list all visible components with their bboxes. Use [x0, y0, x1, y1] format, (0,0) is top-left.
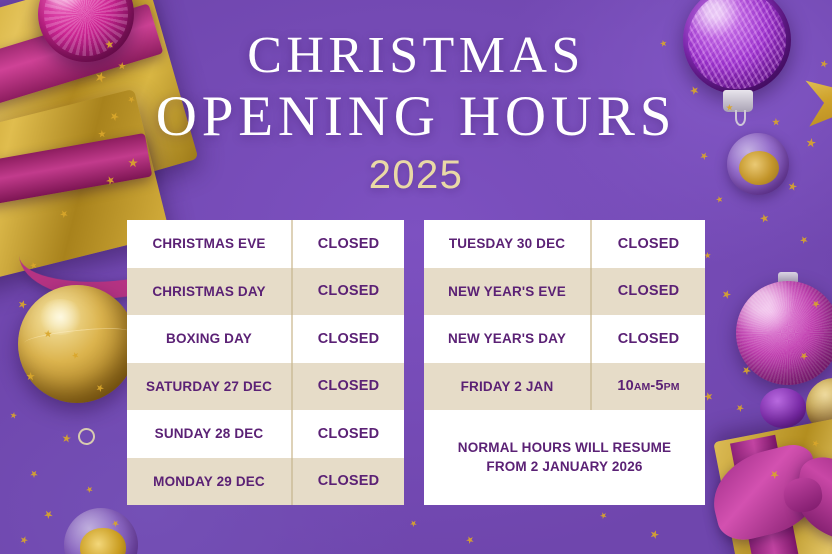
magenta-bauble-right-icon: [736, 281, 832, 385]
status-value: CLOSED: [590, 315, 705, 363]
close-time-meridiem: PM: [664, 381, 680, 393]
footnote-line-1: NORMAL HOURS WILL RESUME: [458, 439, 671, 458]
opening-hours-table-left: CHRISTMAS EVECLOSEDCHRISTMAS DAYCLOSEDBO…: [127, 220, 404, 505]
table-row: NEW YEAR'S DAYCLOSED: [424, 315, 705, 363]
gold-star-confetti-icon: [112, 520, 119, 527]
gold-star-confetti-icon: [9, 411, 19, 421]
footnote-resume-date: 2 JANUARY 2026: [531, 459, 643, 474]
opening-hours-table-right: TUESDAY 30 DECCLOSEDNEW YEAR'S EVECLOSED…: [424, 220, 705, 505]
purple-satin-bow-right-loop-icon: [790, 454, 832, 549]
gold-glitter-bauble-bottom-right-icon: [806, 378, 832, 434]
footnote-normal-hours: NORMAL HOURS WILL RESUMEFROM 2 JANUARY 2…: [424, 410, 705, 505]
title-line-2: OPENING HOURS: [0, 88, 832, 145]
gold-star-confetti-icon: [759, 213, 771, 225]
open-time-meridiem: AM: [634, 381, 651, 393]
gold-star-confetti-icon: [799, 235, 808, 244]
day-label: SUNDAY 28 DEC: [127, 410, 291, 458]
close-time-number: 5: [655, 378, 663, 394]
table-row: CHRISTMAS DAYCLOSED: [127, 268, 404, 316]
footnote-prefix: FROM: [486, 459, 530, 474]
purple-satin-bow-knot-icon: [782, 476, 824, 515]
footnote-line-2: FROM 2 JANUARY 2026: [486, 458, 642, 477]
gold-star-confetti-icon: [811, 299, 821, 309]
gold-star-confetti-icon: [42, 508, 55, 521]
table-row: BOXING DAYCLOSED: [127, 315, 404, 363]
gold-star-confetti-icon: [95, 383, 106, 394]
title-year: 2025: [0, 153, 832, 198]
ribbon-band-bottom-right-icon: [730, 435, 800, 554]
day-label: SATURDAY 27 DEC: [127, 363, 291, 411]
status-value: CLOSED: [590, 268, 705, 316]
gold-star-confetti-icon: [800, 352, 809, 361]
status-value: CLOSED: [590, 220, 705, 268]
poster-headline: CHRISTMAS OPENING HOURS 2025: [0, 30, 832, 198]
bauble-seam-icon: [24, 325, 131, 351]
status-value: CLOSED: [291, 410, 404, 458]
opening-hours-range: 10AM-5PM: [617, 378, 679, 394]
table-row: FRIDAY 2 JAN10AM-5PM: [424, 363, 705, 411]
day-label: MONDAY 29 DEC: [127, 458, 291, 506]
gold-star-confetti-icon: [24, 370, 37, 383]
status-value: CLOSED: [291, 315, 404, 363]
gold-star-confetti-icon: [465, 535, 474, 544]
status-value: CLOSED: [291, 363, 404, 411]
gold-glitter-star-bottom-left-icon: [22, 418, 118, 514]
table-row: TUESDAY 30 DECCLOSED: [424, 220, 705, 268]
table-row: MONDAY 29 DECCLOSED: [127, 458, 404, 506]
gold-star-confetti-icon: [59, 209, 70, 220]
gold-star-confetti-icon: [60, 432, 72, 444]
gold-star-confetti-icon: [649, 529, 661, 541]
title-line-1: CHRISTMAS: [0, 30, 832, 82]
gold-star-confetti-icon: [735, 403, 746, 414]
gold-star-confetti-icon: [85, 485, 93, 493]
table-row: SATURDAY 27 DECCLOSED: [127, 363, 404, 411]
gold-star-confetti-icon: [30, 262, 38, 270]
day-label: NEW YEAR'S EVE: [424, 268, 590, 316]
gold-star-confetti-icon: [768, 468, 781, 481]
day-label: TUESDAY 30 DEC: [424, 220, 590, 268]
status-value: CLOSED: [291, 458, 404, 506]
gold-star-confetti-icon: [16, 298, 29, 311]
day-label: CHRISTMAS DAY: [127, 268, 291, 316]
bauble-cap-icon: [778, 272, 798, 286]
gold-star-confetti-icon: [721, 289, 732, 300]
gold-star-confetti-icon: [811, 439, 820, 448]
gold-star-confetti-icon: [409, 519, 418, 528]
day-label: NEW YEAR'S DAY: [424, 315, 590, 363]
table-row: CHRISTMAS EVECLOSED: [127, 220, 404, 268]
gold-star-confetti-icon: [18, 534, 29, 545]
gold-star-confetti-icon: [71, 351, 81, 361]
gift-box-gold-bottom-right-icon: [713, 408, 832, 554]
table-row: NEW YEAR'S EVECLOSED: [424, 268, 705, 316]
status-value: CLOSED: [291, 268, 404, 316]
gold-star-confetti-icon: [599, 511, 608, 520]
gold-matte-bauble-bottom-left-icon: [18, 285, 136, 403]
purple-bauble-bottom-right-icon: [760, 388, 806, 428]
gold-star-confetti-icon: [42, 328, 53, 339]
christmas-opening-hours-poster: CHRISTMAS OPENING HOURS 2025 CHRISTMAS E…: [0, 0, 832, 554]
gold-star-confetti-icon: [30, 470, 38, 478]
purple-satin-bow-left-loop-icon: [704, 440, 829, 546]
gold-star-confetti-icon: [741, 365, 751, 375]
table-row: SUNDAY 28 DECCLOSED: [127, 410, 404, 458]
day-label: FRIDAY 2 JAN: [424, 363, 590, 411]
open-time-number: 10: [617, 378, 633, 394]
day-label: BOXING DAY: [127, 315, 291, 363]
status-value: 10AM-5PM: [590, 363, 705, 411]
day-label: CHRISTMAS EVE: [127, 220, 291, 268]
clear-bauble-bottom-left-icon: [64, 508, 138, 554]
star-hook-icon: [76, 426, 96, 446]
status-value: CLOSED: [291, 220, 404, 268]
